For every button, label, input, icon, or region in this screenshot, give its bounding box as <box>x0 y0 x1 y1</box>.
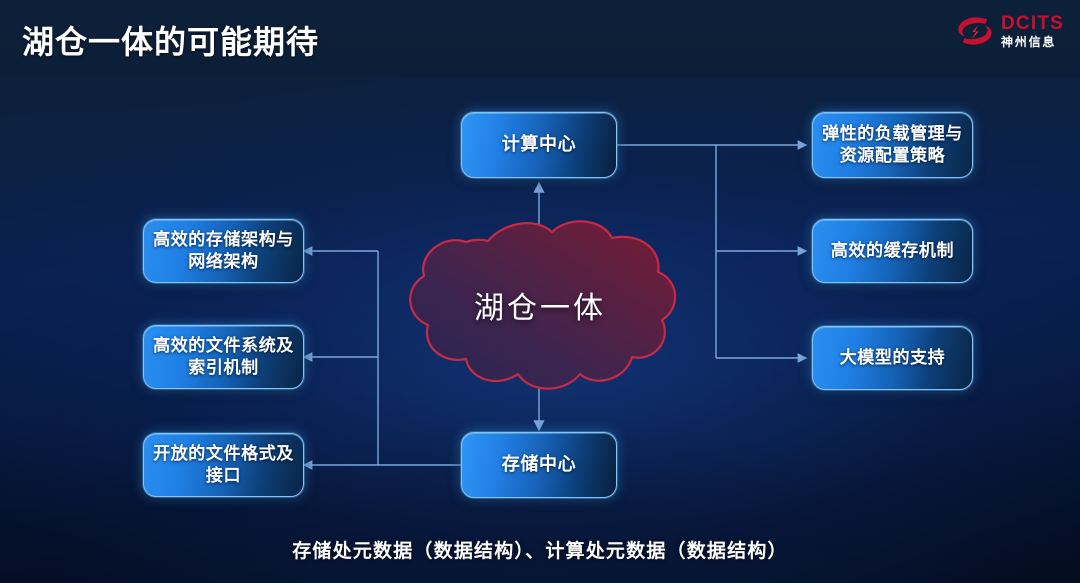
node-file-system-index[interactable]: 高效的文件系统及索引机制 <box>143 325 304 389</box>
slide-header: 湖仓一体的可能期待 DCITS 神州信息 <box>0 0 1080 78</box>
node-compute-center-label: 计算中心 <box>502 133 576 157</box>
diagram-area: 湖仓一体 计算中心 存储中心 高效的存储架构与网络架构 高效的文件系统及索引机制… <box>0 0 1080 583</box>
node-large-model-support[interactable]: 大模型的支持 <box>812 326 973 390</box>
node-storage-center[interactable]: 存储中心 <box>461 432 617 498</box>
node-large-model-support-label: 大模型的支持 <box>840 347 946 369</box>
node-elastic-workload[interactable]: 弹性的负载管理与资源配置策略 <box>812 112 973 178</box>
node-storage-architecture-label: 高效的存储架构与网络架构 <box>152 229 295 274</box>
brand-logo: DCITS 神州信息 <box>956 14 1064 48</box>
cloud-label: 湖仓一体 <box>396 214 684 396</box>
node-open-file-format[interactable]: 开放的文件格式及接口 <box>143 433 304 497</box>
center-cloud[interactable]: 湖仓一体 <box>396 214 684 396</box>
footer-note: 存储处元数据（数据结构）、计算处元数据（数据结构） <box>0 536 1080 563</box>
node-cache-mechanism[interactable]: 高效的缓存机制 <box>812 219 973 283</box>
dcits-swoosh-icon <box>956 14 994 48</box>
page-title: 湖仓一体的可能期待 <box>22 17 319 63</box>
node-compute-center[interactable]: 计算中心 <box>461 112 617 178</box>
logo-cn-name: 神州信息 <box>1001 36 1064 48</box>
node-storage-architecture[interactable]: 高效的存储架构与网络架构 <box>143 219 304 283</box>
logo-text: DCITS 神州信息 <box>1001 14 1064 48</box>
node-storage-center-label: 存储中心 <box>502 453 576 477</box>
node-cache-mechanism-label: 高效的缓存机制 <box>831 240 954 262</box>
node-file-system-index-label: 高效的文件系统及索引机制 <box>152 335 295 380</box>
node-elastic-workload-label: 弹性的负载管理与资源配置策略 <box>821 123 964 168</box>
logo-en-name: DCITS <box>1001 14 1064 33</box>
node-open-file-format-label: 开放的文件格式及接口 <box>152 443 295 488</box>
slide-canvas: 湖仓一体的可能期待 DCITS 神州信息 <box>0 0 1080 583</box>
